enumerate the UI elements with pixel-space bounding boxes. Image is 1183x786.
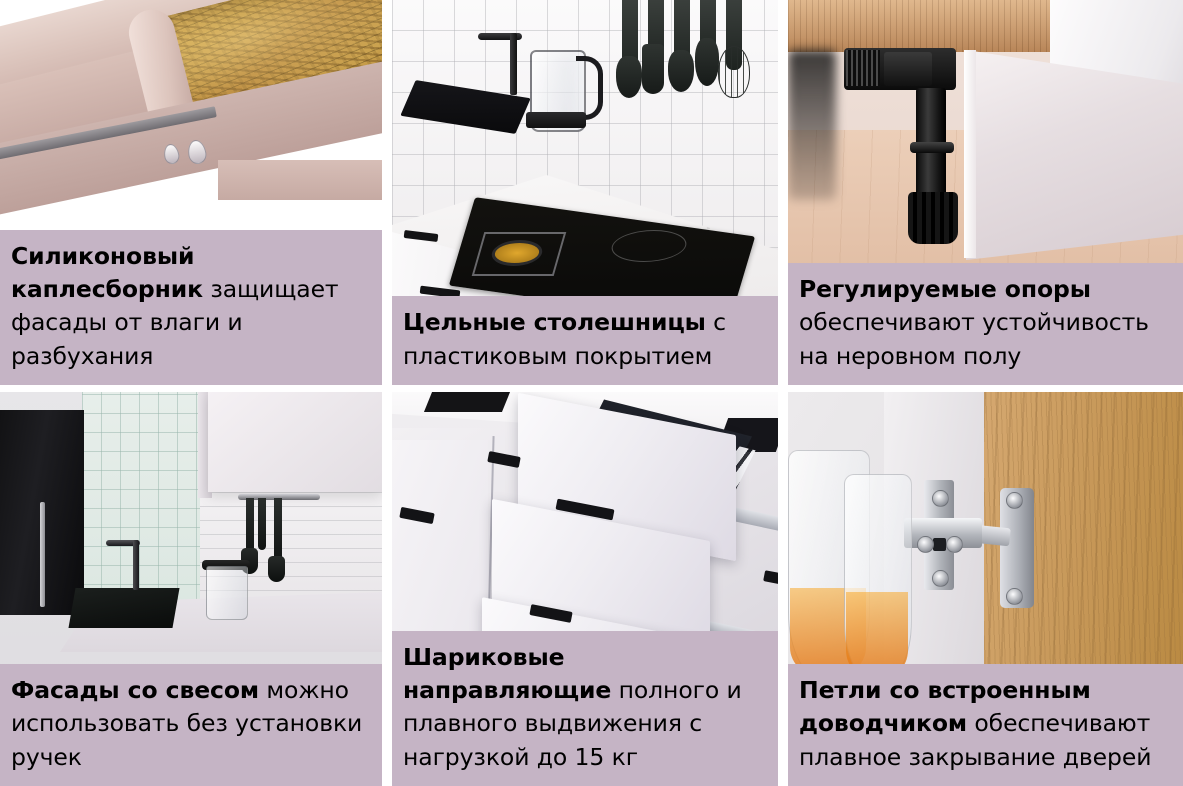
gutter-horizontal [392,385,778,392]
panel-silicone-drip-edge: Силиконовый каплесборник защищает фасады… [0,0,382,385]
kettle-handle [576,56,603,120]
wood-shading-overlay [788,0,1050,52]
screw-icon [932,570,949,587]
ladle-icon [268,556,285,582]
faucet-body [510,33,517,95]
spoon-icon [668,50,694,92]
feature-grid: Силиконовый каплесборник защищает фасады… [0,0,1183,786]
gutter-vertical [382,392,392,786]
leg-adjustment-ring [910,142,954,153]
gutter-cross [382,385,392,392]
caption-bold-lead: Регулируемые опоры [799,275,1091,303]
whisk-icon [718,46,750,98]
gutter-vertical [778,392,788,786]
background-leg-blurred [788,50,836,200]
caption-adjustable-legs: Регулируемые опоры обеспечивают устойчив… [788,263,1183,385]
screw-icon [946,536,963,553]
utensil-handle [258,498,266,550]
gutter-vertical [778,0,788,385]
screw-icon [932,490,949,507]
gutter-horizontal [0,385,382,392]
hinge-adjustment-slot [933,538,946,551]
screw-icon [917,536,934,553]
turner-icon [695,38,719,86]
screw-icon [1006,492,1023,509]
panel-adjustable-legs: Регулируемые опоры обеспечивают устойчив… [788,0,1183,385]
panel-soft-close-hinges: Петли со встроенным доводчиком обеспечив… [788,392,1183,786]
utensil-handle [274,498,282,564]
caption-bold-lead: Фасады со свесом [11,676,259,704]
plinth-edge [964,50,976,258]
caption-rest: обеспечивают устойчивость на неровном по… [799,308,1149,369]
white-plinth-panel [966,50,1183,260]
screw-icon [1006,588,1023,605]
ladle-icon [642,44,664,94]
cabinet-side-panel-shape [218,160,382,200]
caption-solid-countertops: Цельные столешницы с пластиковым покрыти… [392,296,778,385]
glass-jug [206,566,248,620]
caption-ball-bearing-slides: Шариковые направляющие полного и плавног… [392,631,778,786]
caption-overhanging-fronts: Фасады со свесом можно использовать без … [0,664,382,786]
faucet-body [133,540,139,590]
panel-overhanging-fronts: Фасады со свесом можно использовать без … [0,392,382,786]
spatula-icon [616,56,642,98]
tall-cabinet-handle [40,502,45,607]
gutter-vertical [382,0,392,385]
leg-foot [908,192,958,244]
gutter-cross [778,385,788,392]
hob-edge [424,392,510,412]
panel-ball-bearing-slides: Шариковые направляющие полного и плавног… [392,392,778,786]
bracket-ribs [846,50,880,86]
plinth-clip [884,52,932,86]
caption-silicone-drip-edge: Силиконовый каплесборник защищает фасады… [0,230,382,385]
panel-solid-countertops: Цельные столешницы с пластиковым покрыти… [392,0,778,385]
caption-bold-lead: Шариковые направляющие [403,643,611,704]
caption-soft-close-hinges: Петли со встроенным доводчиком обеспечив… [788,664,1183,786]
kettle-base [526,112,586,128]
caption-bold-lead: Цельные столешницы [403,308,706,336]
kitchen-sink [68,588,179,628]
gutter-horizontal [788,385,1183,392]
caption-bold-lead: Силиконовый каплесборник [11,242,203,303]
upper-cabinet [208,392,382,492]
